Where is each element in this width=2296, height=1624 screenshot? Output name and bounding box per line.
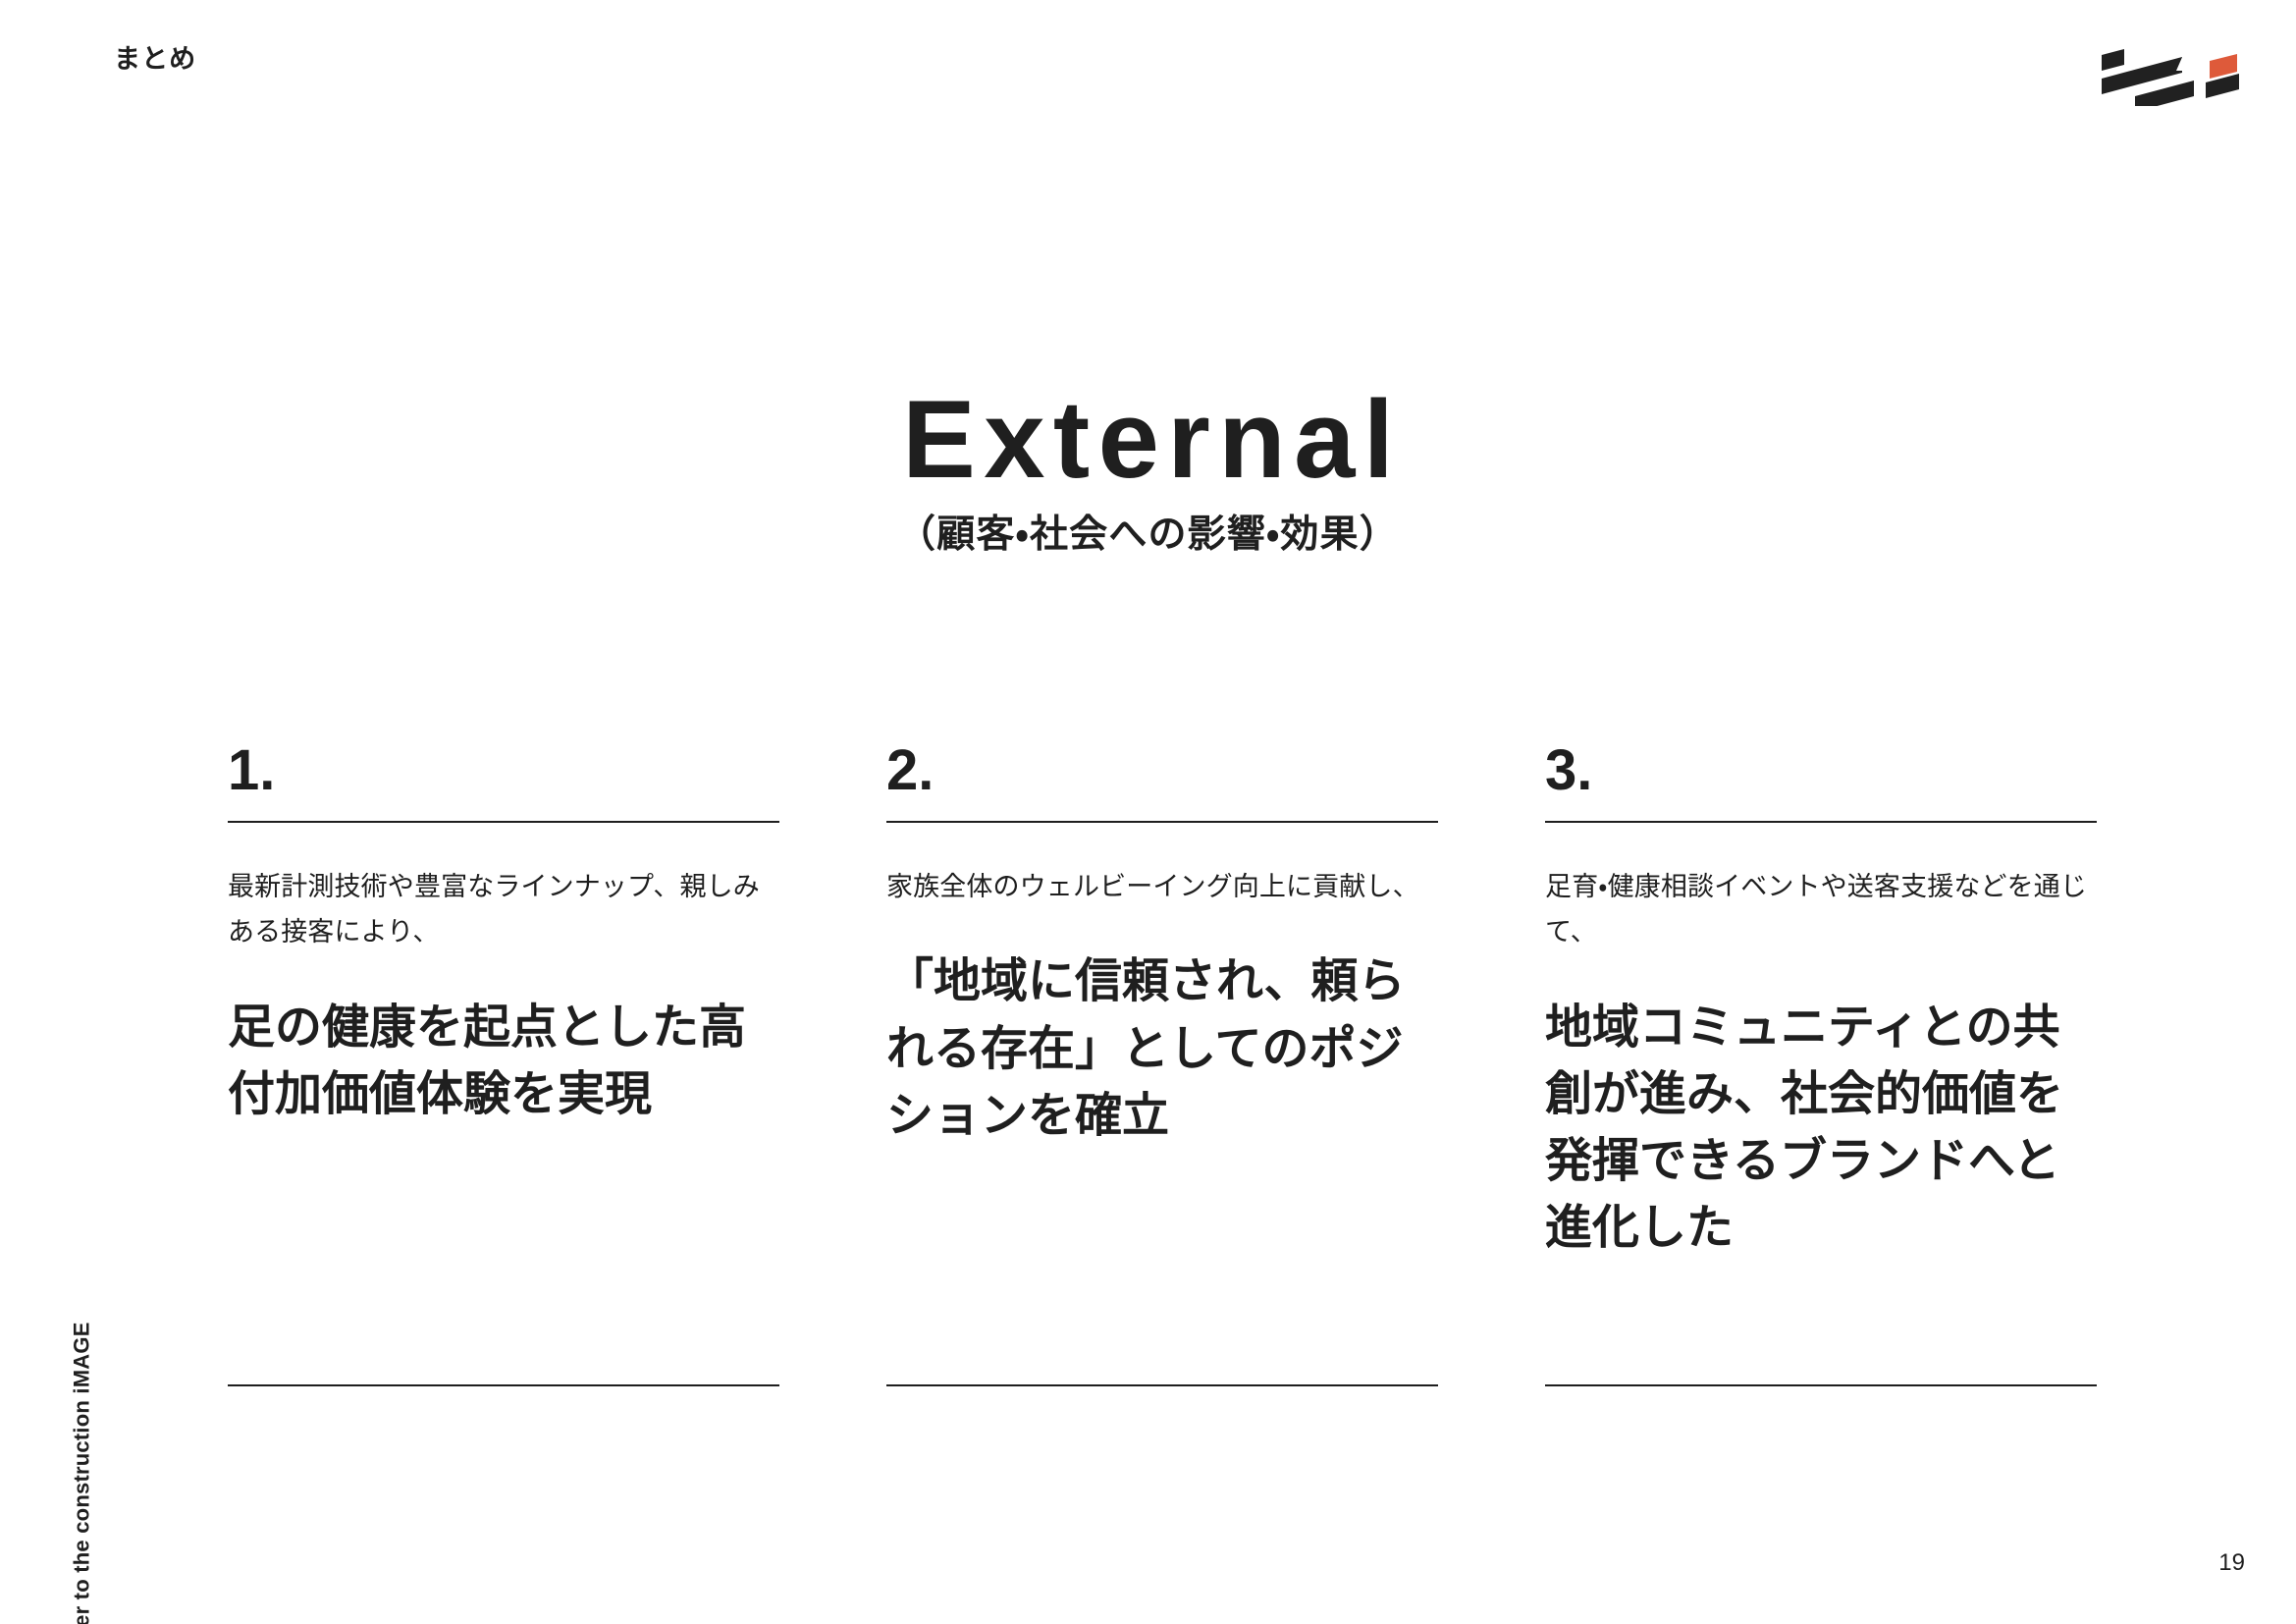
page-number: 19 — [2218, 1551, 2245, 1575]
title-block: External （顧客・社会への影響・効果） — [0, 385, 2296, 559]
column-headline: 地域コミュニティとの共創が進み、社会的価値を発揮できるブランドへと進化した — [1545, 995, 2097, 1263]
column-headline: 「地域に信頼され、頼られる存在」としてのポジションを確立 — [886, 948, 1438, 1149]
column-bottom-rule — [1545, 1384, 2097, 1386]
column-number: 3. — [1545, 742, 2097, 821]
column-top-rule — [886, 821, 1438, 823]
slide-root: まとめ External （顧客・社会への影響・効果） image(s) to … — [0, 0, 2296, 1624]
column-bottom-rule — [228, 1384, 779, 1386]
brand-logo — [2092, 35, 2249, 106]
page-title: External — [0, 385, 2296, 495]
column-number: 1. — [228, 742, 779, 821]
logo-bars — [2102, 39, 2239, 106]
side-vertical-label: image(s) to power to the construction iM… — [65, 1021, 100, 1571]
column-1: 1. 最新計測技術や豊富なラインナップ、親しみある接客により、 足の健康を起点と… — [228, 742, 779, 1386]
column-3: 3. 足育・健康相談イベントや送客支援などを通じて、 地域コミュニティとの共創が… — [1545, 742, 2097, 1386]
column-lead-text: 最新計測技術や豊富なラインナップ、親しみある接客により、 — [228, 864, 779, 955]
column-headline: 足の健康を起点とした高付加価値体験を実現 — [228, 995, 779, 1128]
columns-container: 1. 最新計測技術や豊富なラインナップ、親しみある接客により、 足の健康を起点と… — [228, 742, 2097, 1386]
column-number: 2. — [886, 742, 1438, 821]
side-vertical-label-text: image(s) to power to the construction iM… — [70, 1322, 95, 1624]
column-top-rule — [228, 821, 779, 823]
section-kicker: まとめ — [114, 43, 196, 75]
page-subtitle: （顧客・社会への影響・効果） — [0, 513, 2296, 559]
column-top-rule — [1545, 821, 2097, 823]
column-lead-text: 家族全体のウェルビーイング向上に貢献し、 — [886, 864, 1438, 909]
column-2: 2. 家族全体のウェルビーイング向上に貢献し、 「地域に信頼され、頼られる存在」… — [886, 742, 1438, 1386]
logo-accent — [2210, 54, 2237, 79]
column-lead-text: 足育・健康相談イベントや送客支援などを通じて、 — [1545, 864, 2097, 955]
column-bottom-rule — [886, 1384, 1438, 1386]
